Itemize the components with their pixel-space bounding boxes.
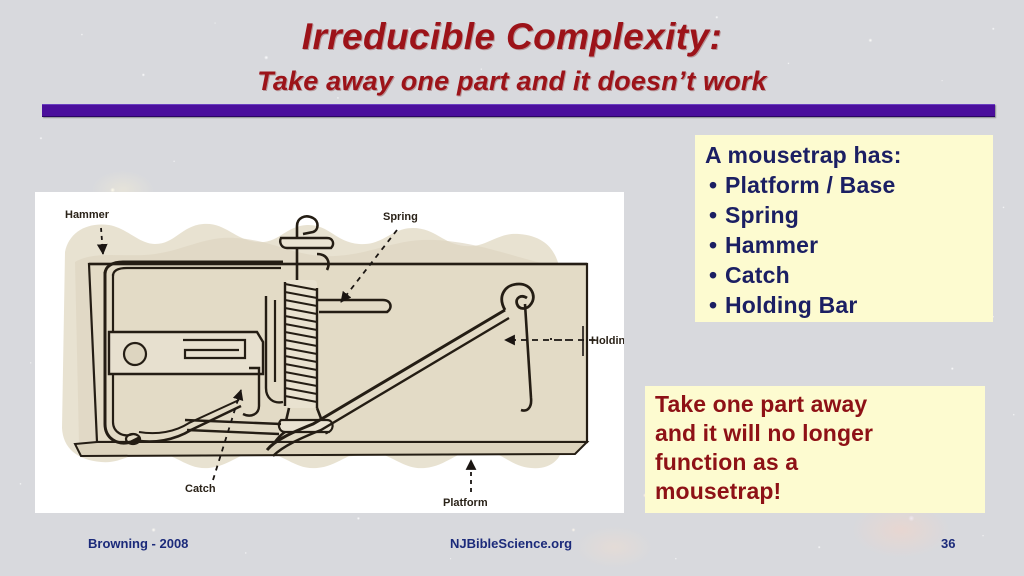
bullet-icon: • <box>709 260 725 290</box>
parts-item-label: Catch <box>725 262 790 288</box>
callout-line: mousetrap! <box>655 477 985 506</box>
label-catch: Catch <box>185 483 216 495</box>
list-item: •Catch <box>705 260 993 290</box>
label-hammer: Hammer <box>65 209 110 221</box>
takeaway-callout-box: Take one part away and it will no longer… <box>645 386 985 513</box>
list-item: •Platform / Base <box>705 170 993 200</box>
spring-top-collar <box>280 238 333 248</box>
slide-footer: Browning - 2008 NJBibleScience.org 36 <box>0 536 1024 560</box>
bullet-icon: • <box>709 230 725 260</box>
callout-line: function as a <box>655 448 985 477</box>
bullet-icon: • <box>709 290 725 320</box>
parts-item-label: Platform / Base <box>725 172 895 198</box>
label-spring: Spring <box>383 211 418 223</box>
bullet-icon: • <box>709 200 725 230</box>
parts-box-heading: A mousetrap has: <box>705 141 993 170</box>
label-platform: Platform <box>443 497 488 509</box>
mousetrap-parts-box: A mousetrap has: •Platform / Base •Sprin… <box>695 135 993 322</box>
list-item: •Hammer <box>705 230 993 260</box>
platform-front-edge <box>75 442 587 456</box>
label-holding-bar: Holding Bar <box>591 335 624 347</box>
spring-coil <box>285 280 317 408</box>
parts-item-label: Holding Bar <box>725 292 858 318</box>
slide-number: 36 <box>941 536 955 551</box>
parts-item-label: Hammer <box>725 232 818 258</box>
mousetrap-svg: Hammer Spring Holding Bar Catch Platform <box>35 192 624 513</box>
parts-list: •Platform / Base •Spring •Hammer •Catch … <box>705 170 993 320</box>
parts-item-label: Spring <box>725 202 799 228</box>
mousetrap-diagram: Hammer Spring Holding Bar Catch Platform <box>35 192 624 513</box>
footer-attribution: Browning - 2008 <box>88 536 188 551</box>
slide-canvas: Irreducible Complexity: Take away one pa… <box>0 0 1024 576</box>
list-item: •Spring <box>705 200 993 230</box>
list-item: •Holding Bar <box>705 290 993 320</box>
footer-website: NJBibleScience.org <box>450 536 572 551</box>
callout-line: Take one part away <box>655 390 985 419</box>
page-subtitle: Take away one part and it doesn’t work <box>0 66 1024 97</box>
title-divider-rule <box>42 104 995 117</box>
page-title: Irreducible Complexity: <box>0 16 1024 58</box>
bullet-icon: • <box>709 170 725 200</box>
callout-line: and it will no longer <box>655 419 985 448</box>
catch-plate-hole <box>124 343 146 365</box>
